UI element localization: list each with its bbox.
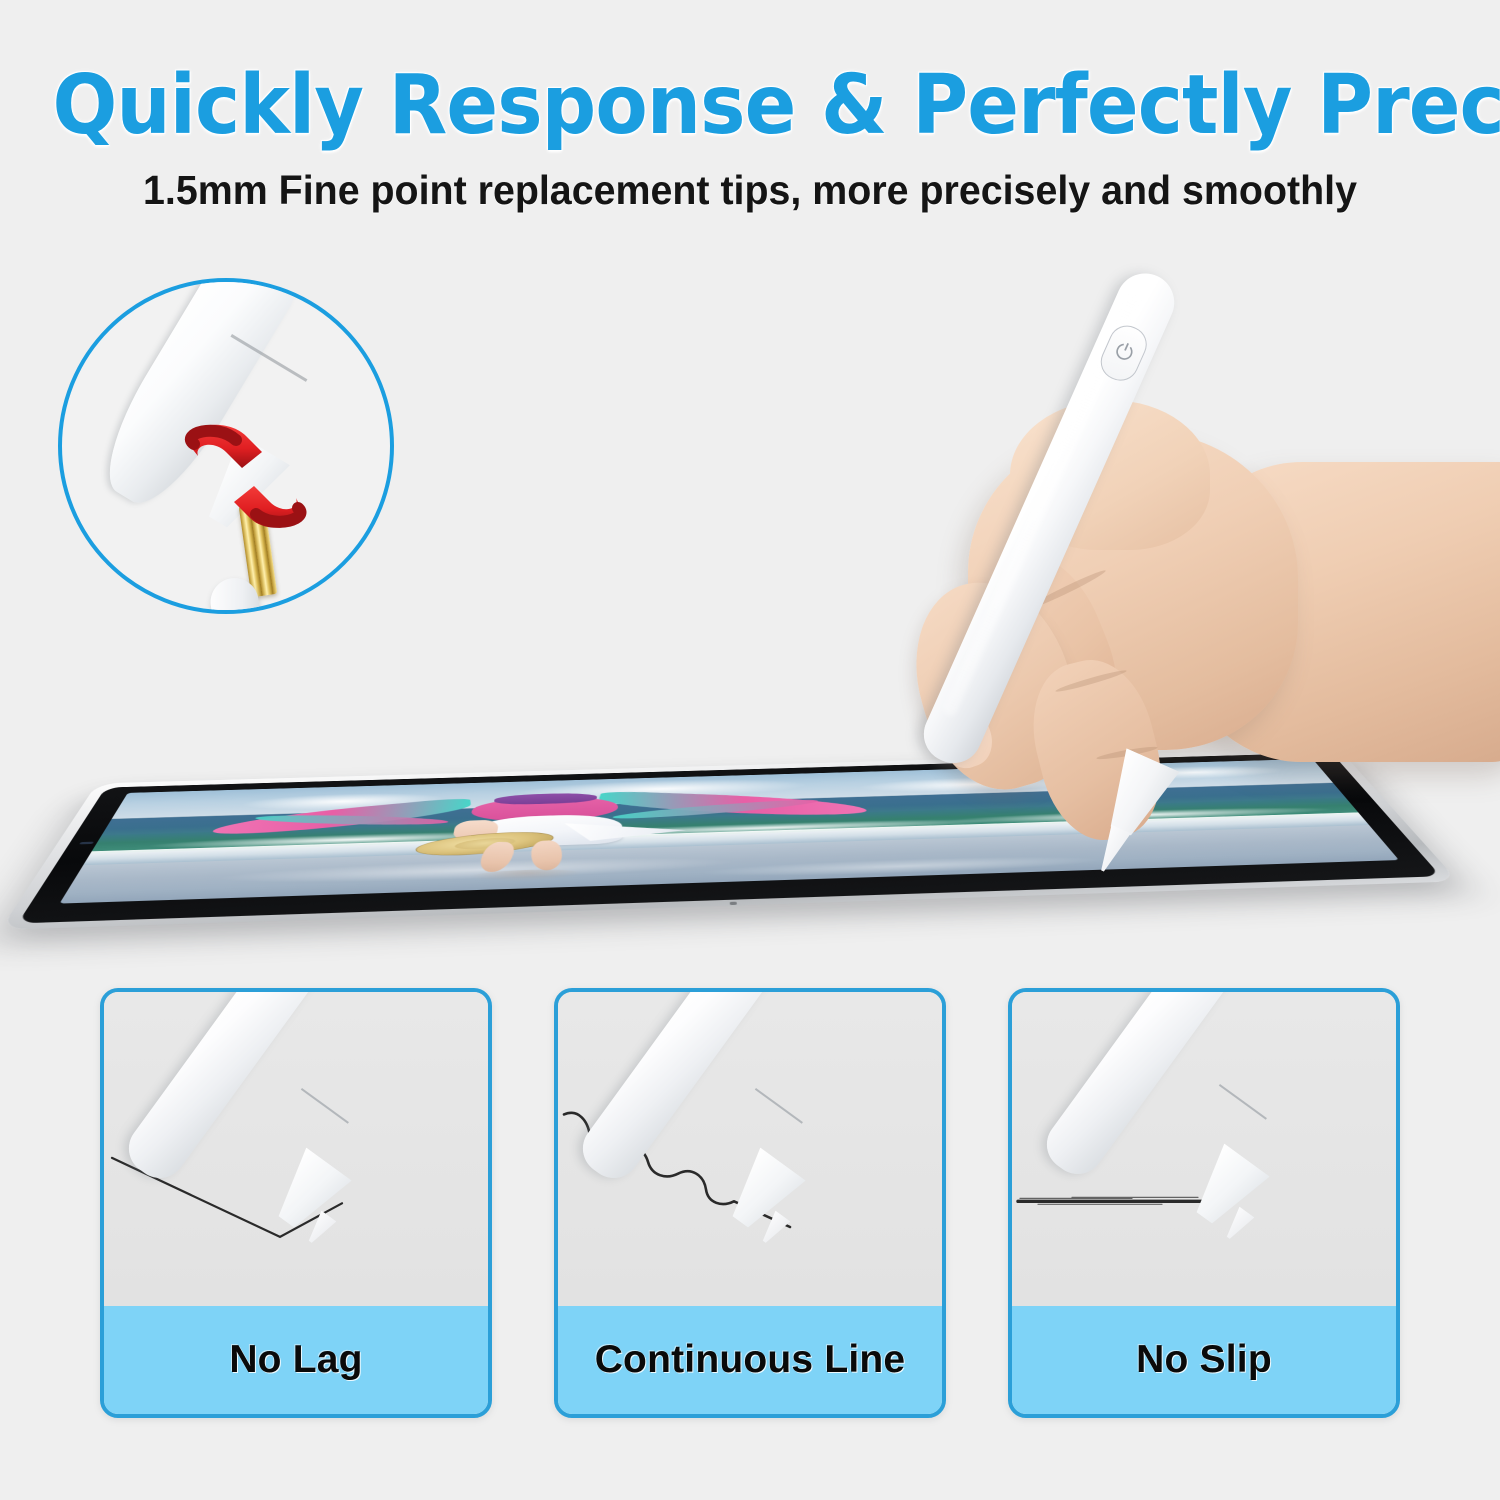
feature-cards: No Lag Continuous Line [0, 988, 1500, 1423]
card-stylus-cone [264, 1148, 352, 1239]
stylus-nib [1092, 824, 1133, 876]
feature-card-continuous-line[interactable]: Continuous Line [554, 988, 946, 1418]
card-stylus-seam [755, 1088, 803, 1124]
card-stylus-cone [718, 1148, 806, 1239]
artwork-girl-figure [396, 789, 678, 881]
replaceable-tip-callout [58, 278, 394, 614]
card-stylus-seam [1219, 1084, 1267, 1120]
hero-section: ⏻ [0, 240, 1500, 970]
feature-card-label: No Lag [229, 1338, 362, 1382]
header: Quickly Response & Perfectly Precision 1… [0, 0, 1500, 240]
hand-holding-stylus: ⏻ [810, 250, 1500, 890]
card-stylus-cone [1182, 1144, 1270, 1235]
card-stylus-seam [301, 1088, 349, 1124]
feature-card-no-slip[interactable]: No Slip [1008, 988, 1400, 1418]
feature-card-caption: No Slip [1012, 1306, 1396, 1414]
feature-card-label: Continuous Line [595, 1338, 906, 1382]
feature-card-no-lag[interactable]: No Lag [100, 988, 492, 1418]
feature-card-label: No Slip [1136, 1338, 1272, 1382]
feature-card-image [558, 992, 942, 1306]
feature-card-caption: Continuous Line [558, 1306, 942, 1414]
feature-card-image [104, 992, 488, 1306]
page-headline: Quickly Response & Perfectly Precision [53, 62, 1448, 150]
feature-card-image [1012, 992, 1396, 1306]
feature-card-caption: No Lag [104, 1306, 488, 1414]
power-icon: ⏻ [1111, 340, 1136, 367]
page-subheadline: 1.5mm Fine point replacement tips, more … [30, 166, 1470, 214]
port-icon [730, 902, 737, 905]
rotation-arrows-icon [150, 410, 350, 550]
artwork-leg-right [531, 839, 563, 871]
